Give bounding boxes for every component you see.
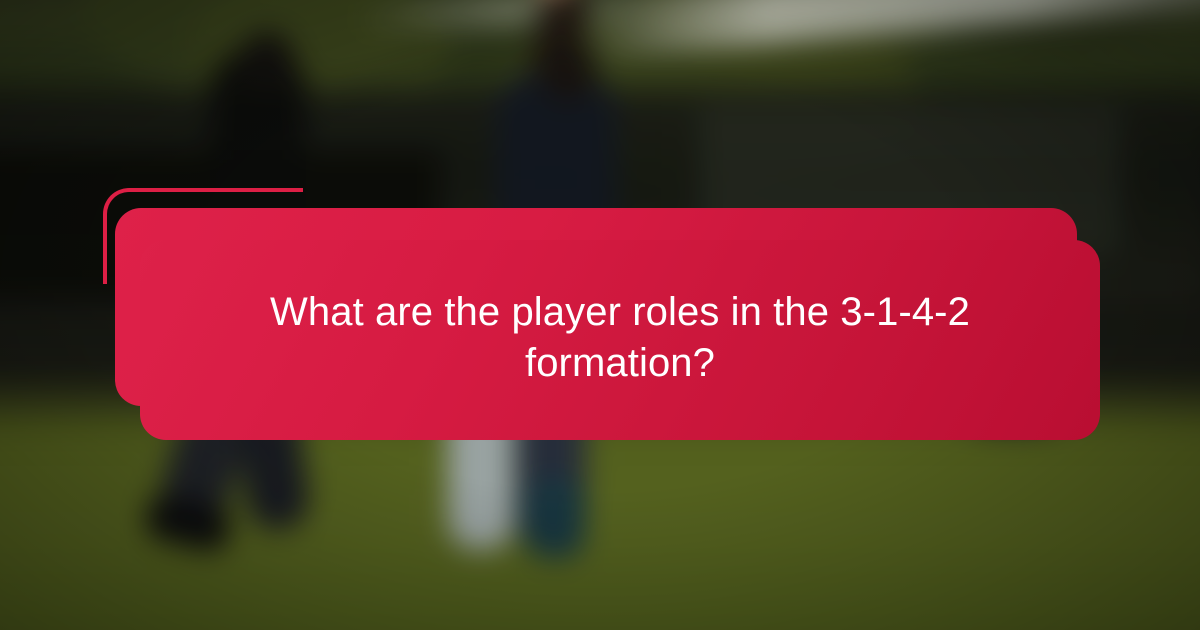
question-text: What are the player roles in the 3-1-4-2… [140, 287, 1100, 389]
question-card: What are the player roles in the 3-1-4-2… [140, 240, 1100, 440]
question-card-banner: What are the player roles in the 3-1-4-2… [0, 0, 1200, 630]
